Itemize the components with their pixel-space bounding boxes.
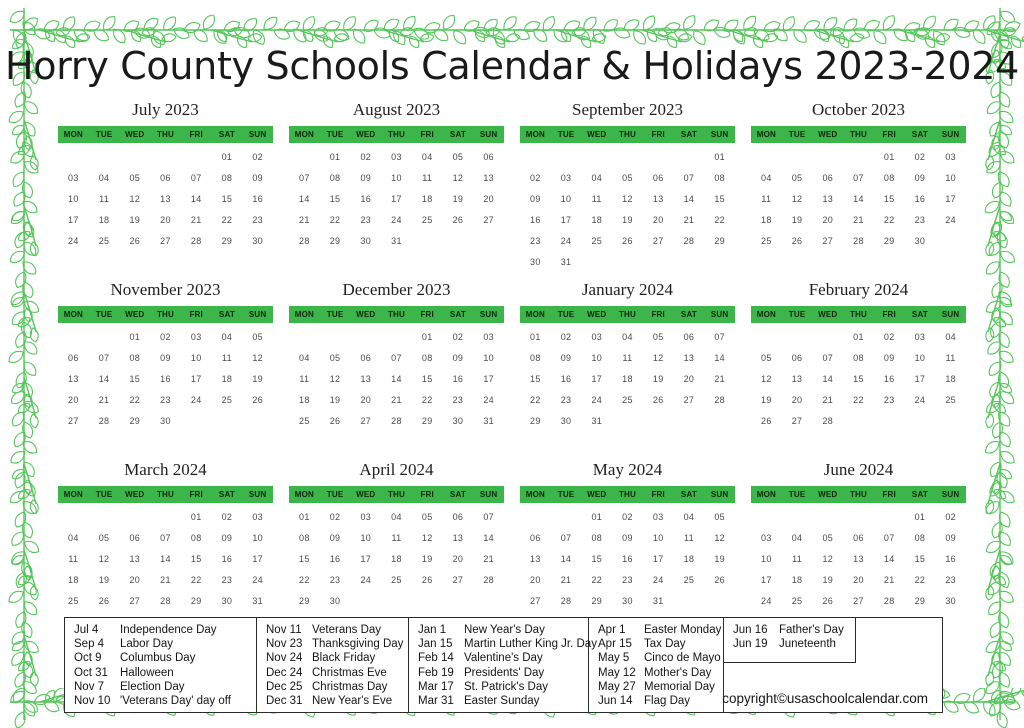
day-cell[interactable]: 16	[350, 189, 381, 210]
day-cell[interactable]: 28	[381, 411, 412, 432]
day-cell[interactable]: 21	[473, 549, 504, 570]
day-cell[interactable]: 13	[843, 549, 874, 570]
day-cell[interactable]: 09	[551, 348, 582, 369]
day-cell[interactable]: 28	[874, 591, 905, 612]
day-cell[interactable]: 28	[551, 591, 582, 612]
day-cell[interactable]: 02	[443, 327, 474, 348]
day-cell[interactable]: 29	[320, 231, 351, 252]
day-cell[interactable]: 01	[119, 327, 150, 348]
day-cell[interactable]: 15	[520, 369, 551, 390]
day-cell[interactable]: 22	[843, 390, 874, 411]
day-cell[interactable]: 07	[89, 348, 120, 369]
day-cell[interactable]: 10	[935, 168, 966, 189]
day-cell[interactable]: 28	[181, 231, 212, 252]
day-cell[interactable]: 23	[551, 390, 582, 411]
day-cell[interactable]: 01	[874, 147, 905, 168]
day-cell[interactable]: 04	[935, 327, 966, 348]
day-cell[interactable]: 08	[520, 348, 551, 369]
day-cell[interactable]: 28	[289, 231, 320, 252]
day-cell[interactable]: 09	[520, 189, 551, 210]
day-cell[interactable]: 04	[612, 327, 643, 348]
day-cell[interactable]: 25	[751, 231, 782, 252]
day-cell[interactable]: 10	[905, 348, 936, 369]
day-cell[interactable]: 11	[381, 528, 412, 549]
day-cell[interactable]: 25	[58, 591, 89, 612]
day-cell[interactable]: 25	[89, 231, 120, 252]
day-cell[interactable]: 04	[212, 327, 243, 348]
day-cell[interactable]: 30	[935, 591, 966, 612]
day-cell[interactable]: 31	[551, 252, 582, 273]
day-cell[interactable]: 10	[181, 348, 212, 369]
day-cell[interactable]: 07	[150, 528, 181, 549]
day-cell[interactable]: 11	[612, 348, 643, 369]
day-cell[interactable]: 08	[212, 168, 243, 189]
day-cell[interactable]: 25	[212, 390, 243, 411]
day-cell[interactable]: 20	[443, 549, 474, 570]
day-cell[interactable]: 02	[320, 507, 351, 528]
day-cell[interactable]: 03	[350, 507, 381, 528]
day-cell[interactable]: 05	[612, 168, 643, 189]
day-cell[interactable]: 23	[905, 210, 936, 231]
day-cell[interactable]: 26	[612, 231, 643, 252]
day-cell[interactable]: 15	[212, 189, 243, 210]
day-cell[interactable]: 27	[520, 591, 551, 612]
day-cell[interactable]: 12	[612, 189, 643, 210]
day-cell[interactable]: 10	[551, 189, 582, 210]
day-cell[interactable]: 21	[89, 390, 120, 411]
day-cell[interactable]: 05	[812, 528, 843, 549]
day-cell[interactable]: 29	[212, 231, 243, 252]
day-cell[interactable]: 06	[812, 168, 843, 189]
day-cell[interactable]: 03	[181, 327, 212, 348]
day-cell[interactable]: 28	[150, 591, 181, 612]
day-cell[interactable]: 24	[581, 390, 612, 411]
day-cell[interactable]: 20	[473, 189, 504, 210]
day-cell[interactable]: 07	[551, 528, 582, 549]
day-cell[interactable]: 14	[704, 348, 735, 369]
day-cell[interactable]: 17	[242, 549, 273, 570]
day-cell[interactable]: 27	[350, 411, 381, 432]
day-cell[interactable]: 03	[581, 327, 612, 348]
day-cell[interactable]: 22	[412, 390, 443, 411]
day-cell[interactable]: 24	[381, 210, 412, 231]
day-cell[interactable]: 17	[751, 570, 782, 591]
day-cell[interactable]: 22	[581, 570, 612, 591]
day-cell[interactable]: 02	[551, 327, 582, 348]
day-cell[interactable]: 17	[381, 189, 412, 210]
day-cell[interactable]: 27	[119, 591, 150, 612]
day-cell[interactable]: 18	[381, 549, 412, 570]
day-cell[interactable]: 28	[89, 411, 120, 432]
day-cell[interactable]: 20	[350, 390, 381, 411]
day-cell[interactable]: 28	[473, 570, 504, 591]
day-cell[interactable]: 04	[674, 507, 705, 528]
day-cell[interactable]: 31	[473, 411, 504, 432]
day-cell[interactable]: 17	[551, 210, 582, 231]
day-cell[interactable]: 08	[119, 348, 150, 369]
day-cell[interactable]: 24	[181, 390, 212, 411]
day-cell[interactable]: 01	[289, 507, 320, 528]
day-cell[interactable]: 11	[412, 168, 443, 189]
day-cell[interactable]: 05	[704, 507, 735, 528]
day-cell[interactable]: 25	[289, 411, 320, 432]
day-cell[interactable]: 10	[581, 348, 612, 369]
day-cell[interactable]: 28	[704, 390, 735, 411]
day-cell[interactable]: 19	[443, 189, 474, 210]
day-cell[interactable]: 24	[643, 570, 674, 591]
day-cell[interactable]: 22	[289, 570, 320, 591]
day-cell[interactable]: 21	[843, 210, 874, 231]
day-cell[interactable]: 18	[581, 210, 612, 231]
day-cell[interactable]: 12	[643, 348, 674, 369]
day-cell[interactable]: 19	[412, 549, 443, 570]
day-cell[interactable]: 31	[581, 411, 612, 432]
day-cell[interactable]: 05	[320, 348, 351, 369]
day-cell[interactable]: 18	[89, 210, 120, 231]
day-cell[interactable]: 30	[150, 411, 181, 432]
day-cell[interactable]: 05	[89, 528, 120, 549]
day-cell[interactable]: 27	[58, 411, 89, 432]
day-cell[interactable]: 15	[412, 369, 443, 390]
day-cell[interactable]: 14	[874, 549, 905, 570]
day-cell[interactable]: 22	[212, 210, 243, 231]
day-cell[interactable]: 14	[381, 369, 412, 390]
day-cell[interactable]: 03	[58, 168, 89, 189]
day-cell[interactable]: 15	[581, 549, 612, 570]
day-cell[interactable]: 08	[843, 348, 874, 369]
day-cell[interactable]: 17	[58, 210, 89, 231]
day-cell[interactable]: 05	[242, 327, 273, 348]
day-cell[interactable]: 11	[581, 189, 612, 210]
day-cell[interactable]: 05	[782, 168, 813, 189]
day-cell[interactable]: 08	[289, 528, 320, 549]
day-cell[interactable]: 24	[751, 591, 782, 612]
day-cell[interactable]: 30	[242, 231, 273, 252]
day-cell[interactable]: 11	[935, 348, 966, 369]
day-cell[interactable]: 15	[181, 549, 212, 570]
day-cell[interactable]: 21	[150, 570, 181, 591]
day-cell[interactable]: 30	[443, 411, 474, 432]
day-cell[interactable]: 14	[551, 549, 582, 570]
day-cell[interactable]: 04	[782, 528, 813, 549]
day-cell[interactable]: 10	[473, 348, 504, 369]
day-cell[interactable]: 30	[212, 591, 243, 612]
day-cell[interactable]: 12	[320, 369, 351, 390]
day-cell[interactable]: 19	[643, 369, 674, 390]
day-cell[interactable]: 23	[612, 570, 643, 591]
day-cell[interactable]: 03	[551, 168, 582, 189]
day-cell[interactable]: 20	[674, 369, 705, 390]
day-cell[interactable]: 18	[58, 570, 89, 591]
day-cell[interactable]: 14	[89, 369, 120, 390]
day-cell[interactable]: 10	[350, 528, 381, 549]
day-cell[interactable]: 22	[905, 570, 936, 591]
day-cell[interactable]: 07	[473, 507, 504, 528]
day-cell[interactable]: 27	[443, 570, 474, 591]
day-cell[interactable]: 05	[119, 168, 150, 189]
day-cell[interactable]: 20	[58, 390, 89, 411]
day-cell[interactable]: 15	[905, 549, 936, 570]
day-cell[interactable]: 04	[89, 168, 120, 189]
day-cell[interactable]: 12	[782, 189, 813, 210]
day-cell[interactable]: 06	[674, 327, 705, 348]
day-cell[interactable]: 29	[520, 411, 551, 432]
day-cell[interactable]: 21	[812, 390, 843, 411]
day-cell[interactable]: 06	[843, 528, 874, 549]
day-cell[interactable]: 01	[320, 147, 351, 168]
day-cell[interactable]: 03	[473, 327, 504, 348]
day-cell[interactable]: 19	[751, 390, 782, 411]
day-cell[interactable]: 25	[581, 231, 612, 252]
day-cell[interactable]: 07	[843, 168, 874, 189]
day-cell[interactable]: 12	[119, 189, 150, 210]
day-cell[interactable]: 02	[612, 507, 643, 528]
day-cell[interactable]: 01	[181, 507, 212, 528]
day-cell[interactable]: 21	[381, 390, 412, 411]
day-cell[interactable]: 26	[242, 390, 273, 411]
day-cell[interactable]: 24	[473, 390, 504, 411]
day-cell[interactable]: 19	[704, 549, 735, 570]
day-cell[interactable]: 07	[812, 348, 843, 369]
day-cell[interactable]: 01	[581, 507, 612, 528]
day-cell[interactable]: 05	[643, 327, 674, 348]
day-cell[interactable]: 07	[704, 327, 735, 348]
day-cell[interactable]: 20	[150, 210, 181, 231]
day-cell[interactable]: 29	[119, 411, 150, 432]
day-cell[interactable]: 27	[782, 411, 813, 432]
day-cell[interactable]: 13	[119, 549, 150, 570]
day-cell[interactable]: 04	[58, 528, 89, 549]
day-cell[interactable]: 01	[412, 327, 443, 348]
day-cell[interactable]: 16	[612, 549, 643, 570]
day-cell[interactable]: 15	[289, 549, 320, 570]
day-cell[interactable]: 09	[212, 528, 243, 549]
day-cell[interactable]: 29	[289, 591, 320, 612]
day-cell[interactable]: 16	[905, 189, 936, 210]
day-cell[interactable]: 02	[212, 507, 243, 528]
day-cell[interactable]: 23	[935, 570, 966, 591]
day-cell[interactable]: 16	[935, 549, 966, 570]
day-cell[interactable]: 13	[812, 189, 843, 210]
day-cell[interactable]: 09	[242, 168, 273, 189]
day-cell[interactable]: 10	[751, 549, 782, 570]
day-cell[interactable]: 20	[643, 210, 674, 231]
day-cell[interactable]: 26	[320, 411, 351, 432]
day-cell[interactable]: 22	[181, 570, 212, 591]
day-cell[interactable]: 19	[320, 390, 351, 411]
day-cell[interactable]: 24	[242, 570, 273, 591]
day-cell[interactable]: 26	[443, 210, 474, 231]
day-cell[interactable]: 08	[905, 528, 936, 549]
day-cell[interactable]: 13	[150, 189, 181, 210]
day-cell[interactable]: 02	[935, 507, 966, 528]
day-cell[interactable]: 13	[643, 189, 674, 210]
day-cell[interactable]: 20	[520, 570, 551, 591]
day-cell[interactable]: 25	[674, 570, 705, 591]
day-cell[interactable]: 11	[674, 528, 705, 549]
day-cell[interactable]: 21	[874, 570, 905, 591]
day-cell[interactable]: 19	[242, 369, 273, 390]
day-cell[interactable]: 29	[412, 411, 443, 432]
day-cell[interactable]: 10	[58, 189, 89, 210]
day-cell[interactable]: 18	[751, 210, 782, 231]
day-cell[interactable]: 09	[612, 528, 643, 549]
day-cell[interactable]: 23	[350, 210, 381, 231]
day-cell[interactable]: 07	[674, 168, 705, 189]
day-cell[interactable]: 05	[412, 507, 443, 528]
day-cell[interactable]: 16	[874, 369, 905, 390]
day-cell[interactable]: 07	[181, 168, 212, 189]
day-cell[interactable]: 28	[812, 411, 843, 432]
day-cell[interactable]: 09	[905, 168, 936, 189]
day-cell[interactable]: 29	[581, 591, 612, 612]
day-cell[interactable]: 20	[119, 570, 150, 591]
day-cell[interactable]: 26	[812, 591, 843, 612]
day-cell[interactable]: 29	[905, 591, 936, 612]
day-cell[interactable]: 07	[874, 528, 905, 549]
day-cell[interactable]: 03	[643, 507, 674, 528]
day-cell[interactable]: 05	[443, 147, 474, 168]
day-cell[interactable]: 24	[350, 570, 381, 591]
day-cell[interactable]: 02	[150, 327, 181, 348]
day-cell[interactable]: 21	[704, 369, 735, 390]
day-cell[interactable]: 16	[212, 549, 243, 570]
day-cell[interactable]: 16	[520, 210, 551, 231]
day-cell[interactable]: 14	[843, 189, 874, 210]
day-cell[interactable]: 26	[782, 231, 813, 252]
day-cell[interactable]: 09	[874, 348, 905, 369]
day-cell[interactable]: 12	[751, 369, 782, 390]
day-cell[interactable]: 01	[843, 327, 874, 348]
day-cell[interactable]: 24	[58, 231, 89, 252]
day-cell[interactable]: 30	[520, 252, 551, 273]
day-cell[interactable]: 02	[350, 147, 381, 168]
day-cell[interactable]: 30	[350, 231, 381, 252]
day-cell[interactable]: 05	[751, 348, 782, 369]
day-cell[interactable]: 08	[874, 168, 905, 189]
day-cell[interactable]: 01	[905, 507, 936, 528]
day-cell[interactable]: 29	[181, 591, 212, 612]
day-cell[interactable]: 17	[181, 369, 212, 390]
day-cell[interactable]: 03	[905, 327, 936, 348]
day-cell[interactable]: 16	[320, 549, 351, 570]
day-cell[interactable]: 12	[412, 528, 443, 549]
day-cell[interactable]: 07	[381, 348, 412, 369]
day-cell[interactable]: 10	[381, 168, 412, 189]
day-cell[interactable]: 13	[58, 369, 89, 390]
day-cell[interactable]: 14	[674, 189, 705, 210]
day-cell[interactable]: 29	[874, 231, 905, 252]
day-cell[interactable]: 04	[412, 147, 443, 168]
day-cell[interactable]: 08	[581, 528, 612, 549]
day-cell[interactable]: 18	[612, 369, 643, 390]
day-cell[interactable]: 06	[473, 147, 504, 168]
day-cell[interactable]: 27	[674, 390, 705, 411]
day-cell[interactable]: 15	[119, 369, 150, 390]
day-cell[interactable]: 09	[443, 348, 474, 369]
day-cell[interactable]: 22	[874, 210, 905, 231]
day-cell[interactable]: 24	[905, 390, 936, 411]
day-cell[interactable]: 16	[150, 369, 181, 390]
day-cell[interactable]: 01	[212, 147, 243, 168]
day-cell[interactable]: 08	[704, 168, 735, 189]
day-cell[interactable]: 28	[674, 231, 705, 252]
day-cell[interactable]: 22	[520, 390, 551, 411]
day-cell[interactable]: 13	[443, 528, 474, 549]
day-cell[interactable]: 03	[242, 507, 273, 528]
day-cell[interactable]: 27	[150, 231, 181, 252]
day-cell[interactable]: 11	[58, 549, 89, 570]
day-cell[interactable]: 06	[150, 168, 181, 189]
day-cell[interactable]: 30	[320, 591, 351, 612]
day-cell[interactable]: 14	[473, 528, 504, 549]
day-cell[interactable]: 16	[242, 189, 273, 210]
day-cell[interactable]: 02	[520, 168, 551, 189]
day-cell[interactable]: 25	[381, 570, 412, 591]
day-cell[interactable]: 16	[443, 369, 474, 390]
day-cell[interactable]: 14	[181, 189, 212, 210]
day-cell[interactable]: 23	[520, 231, 551, 252]
day-cell[interactable]: 20	[782, 390, 813, 411]
day-cell[interactable]: 01	[520, 327, 551, 348]
day-cell[interactable]: 06	[350, 348, 381, 369]
day-cell[interactable]: 06	[119, 528, 150, 549]
day-cell[interactable]: 03	[935, 147, 966, 168]
day-cell[interactable]: 06	[782, 348, 813, 369]
day-cell[interactable]: 30	[551, 411, 582, 432]
day-cell[interactable]: 09	[350, 168, 381, 189]
day-cell[interactable]: 27	[843, 591, 874, 612]
day-cell[interactable]: 26	[704, 570, 735, 591]
day-cell[interactable]: 18	[412, 189, 443, 210]
day-cell[interactable]: 25	[782, 591, 813, 612]
day-cell[interactable]: 15	[874, 189, 905, 210]
day-cell[interactable]: 12	[242, 348, 273, 369]
day-cell[interactable]: 08	[412, 348, 443, 369]
day-cell[interactable]: 18	[935, 369, 966, 390]
day-cell[interactable]: 07	[289, 168, 320, 189]
day-cell[interactable]: 18	[212, 369, 243, 390]
day-cell[interactable]: 10	[643, 528, 674, 549]
day-cell[interactable]: 09	[320, 528, 351, 549]
day-cell[interactable]: 08	[181, 528, 212, 549]
day-cell[interactable]: 17	[905, 369, 936, 390]
day-cell[interactable]: 22	[704, 210, 735, 231]
day-cell[interactable]: 14	[289, 189, 320, 210]
day-cell[interactable]: 17	[643, 549, 674, 570]
day-cell[interactable]: 11	[751, 189, 782, 210]
day-cell[interactable]: 25	[612, 390, 643, 411]
day-cell[interactable]: 13	[674, 348, 705, 369]
day-cell[interactable]: 12	[704, 528, 735, 549]
day-cell[interactable]: 19	[782, 210, 813, 231]
day-cell[interactable]: 21	[289, 210, 320, 231]
day-cell[interactable]: 13	[350, 369, 381, 390]
day-cell[interactable]: 23	[242, 210, 273, 231]
day-cell[interactable]: 12	[89, 549, 120, 570]
day-cell[interactable]: 13	[520, 549, 551, 570]
day-cell[interactable]: 18	[289, 390, 320, 411]
day-cell[interactable]: 11	[212, 348, 243, 369]
day-cell[interactable]: 24	[935, 210, 966, 231]
day-cell[interactable]: 27	[643, 231, 674, 252]
day-cell[interactable]: 25	[935, 390, 966, 411]
day-cell[interactable]: 14	[150, 549, 181, 570]
day-cell[interactable]: 29	[704, 231, 735, 252]
day-cell[interactable]: 17	[473, 369, 504, 390]
day-cell[interactable]: 14	[812, 369, 843, 390]
day-cell[interactable]: 15	[704, 189, 735, 210]
